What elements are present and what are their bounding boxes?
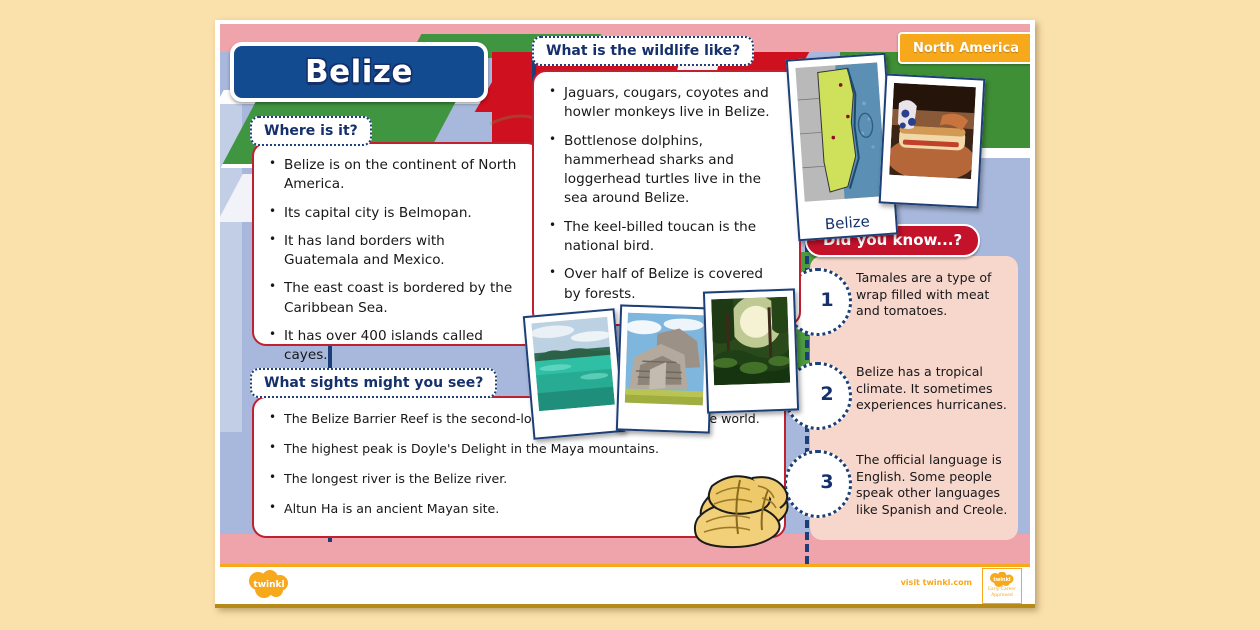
- fact-number: 3: [820, 471, 833, 493]
- list-item: Belize is on the continent of North Amer…: [284, 156, 523, 195]
- footer-divider: [220, 564, 1030, 567]
- section-heading-sights: What sights might you see?: [250, 368, 497, 398]
- svg-text:twinkl: twinkl: [253, 580, 284, 590]
- caribbean-sea-image: [531, 317, 614, 411]
- fact-row: 1 Tamales are a type of wrap filled with…: [810, 264, 1018, 336]
- photo-caption: Belize: [799, 210, 896, 235]
- section-heading-wildlife: What is the wildlife like?: [532, 36, 754, 66]
- photo-mayan-ruins: [616, 304, 714, 433]
- list-item: The east coast is bordered by the Caribb…: [284, 279, 523, 318]
- continent-badge-label: North America: [913, 41, 1019, 56]
- twinkl-approved-badge: twinkl Early Career Approved: [982, 568, 1022, 604]
- list-item: It has over 400 islands called cayes.: [284, 327, 523, 366]
- fact-number-badge: 1: [804, 264, 856, 336]
- twinkl-logo-icon: twinkl: [246, 570, 292, 598]
- poster-artboard: Belize North America Where is it? What i…: [220, 24, 1030, 564]
- continent-badge: North America: [898, 32, 1030, 64]
- badge-text: Early Career Approved: [983, 587, 1021, 598]
- fact-box-where: Belize is on the continent of North Amer…: [252, 142, 541, 346]
- list-item: Jaguars, cougars, coyotes and howler mon…: [564, 84, 783, 123]
- badge-line-1: Early Career: [983, 587, 1021, 593]
- photo-belizean-food: [879, 73, 986, 208]
- belize-fact-poster: Belize North America Where is it? What i…: [215, 20, 1035, 608]
- section-heading-where: Where is it?: [250, 116, 372, 146]
- fact-text: Tamales are a type of wrap filled with m…: [856, 264, 1008, 320]
- fact-text: Belize has a tropical climate. It someti…: [856, 358, 1008, 414]
- badge-line-2: Approved: [983, 593, 1021, 599]
- list-item: The highest peak is Doyle's Delight in t…: [284, 440, 768, 458]
- screenshot-canvas: Belize North America Where is it? What i…: [0, 0, 1260, 630]
- fact-number-badge: 3: [804, 446, 856, 518]
- twinkl-badge-logo-icon: twinkl: [988, 572, 1016, 587]
- list-item: It has land borders with Guatemala and M…: [284, 232, 523, 271]
- map-of-belize-image: [795, 62, 886, 201]
- list-item: Bottlenose dolphins, hammerhead sharks a…: [564, 132, 783, 209]
- fact-list-wildlife: Jaguars, cougars, coyotes and howler mon…: [534, 72, 799, 316]
- mayan-ruins-image: [625, 313, 706, 406]
- visit-twinkl-link[interactable]: visit twinkl.com: [901, 578, 972, 587]
- photo-caribbean-sea: [523, 308, 625, 440]
- poster-title-banner: Belize: [230, 42, 488, 102]
- rainforest-image: [711, 297, 790, 386]
- poster-footer: twinkl visit twinkl.com twinkl: [220, 564, 1030, 604]
- poster-bottom-edge: [215, 604, 1035, 608]
- section-heading-sights-label: What sights might you see?: [264, 375, 483, 391]
- fact-text: The official language is English. Some p…: [856, 446, 1008, 518]
- section-heading-where-label: Where is it?: [264, 123, 358, 139]
- fact-row: 2 Belize has a tropical climate. It some…: [810, 358, 1018, 430]
- page-title: Belize: [305, 54, 413, 90]
- tamales-illustration: [682, 460, 798, 556]
- belizean-food-image: [889, 83, 976, 179]
- fact-number: 2: [820, 383, 833, 405]
- section-heading-wildlife-label: What is the wildlife like?: [546, 43, 740, 59]
- fact-list-where: Belize is on the continent of North Amer…: [254, 144, 539, 378]
- fact-number: 1: [820, 289, 833, 311]
- fact-number-badge: 2: [804, 358, 856, 430]
- did-you-know-panel: 1 Tamales are a type of wrap filled with…: [810, 256, 1018, 540]
- list-item: The keel-billed toucan is the national b…: [564, 218, 783, 257]
- list-item: Its capital city is Belmopan.: [284, 204, 523, 223]
- svg-text:twinkl: twinkl: [993, 577, 1011, 583]
- fact-box-wildlife: Jaguars, cougars, coyotes and howler mon…: [532, 70, 801, 326]
- fact-row: 3 The official language is English. Some…: [810, 446, 1018, 518]
- photo-rainforest: [703, 288, 799, 413]
